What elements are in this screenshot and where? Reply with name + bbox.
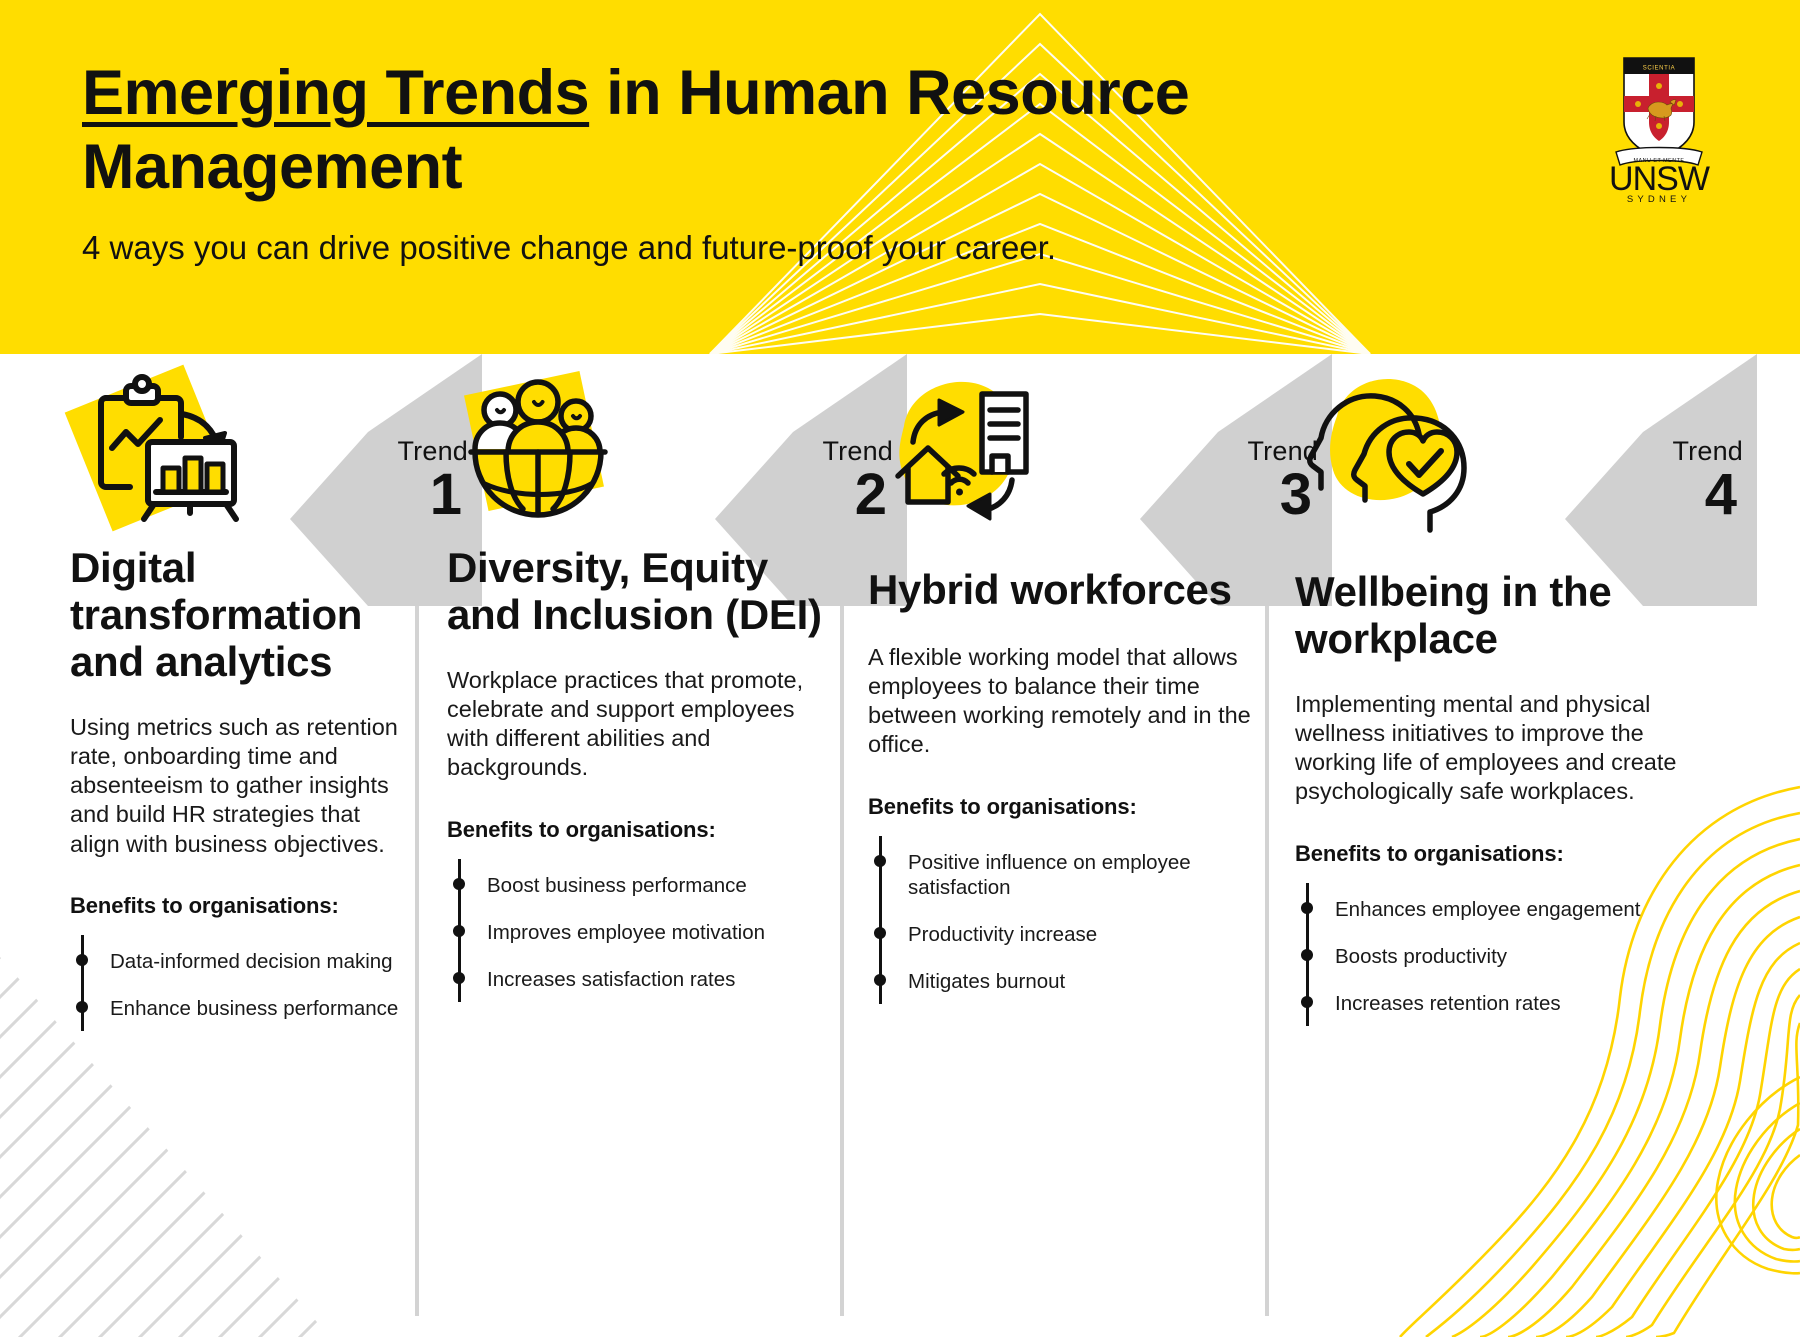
trend-description-1: Using metrics such as retention rate, on… [70,713,407,859]
bullet-dot-icon [76,954,88,966]
benefit-text: Mitigates burnout [908,970,1065,993]
trend-icon-3-wrap [872,354,1257,544]
unsw-sydney-logo: SCIENTIA MANU ET MENTE [1586,52,1732,204]
benefit-item: Enhance business performance [110,996,407,1021]
benefit-text: Productivity increase [908,923,1097,946]
benefits-list-4: Enhances employee engagement Boosts prod… [1295,897,1682,1016]
page-title: Emerging Trends in Human Resource Manage… [82,56,1522,205]
benefit-item: Increases retention rates [1335,991,1682,1016]
benefits-heading-3: Benefits to organisations: [868,794,1257,820]
benefits-spine-1 [81,935,84,1031]
trend-title-1: Digital transformation and analytics [70,544,407,685]
page-subtitle: 4 ways you can drive positive change and… [82,227,1522,268]
trend-description-2: Workplace practices that promote, celebr… [447,666,832,783]
benefit-item: Data-informed decision making [110,949,407,974]
header-text-block: Emerging Trends in Human Resource Manage… [82,56,1522,268]
trend-description-4: Implementing mental and physical wellnes… [1295,690,1682,807]
bullet-dot-icon [1301,949,1313,961]
benefit-item: Enhances employee engagement [1335,897,1682,922]
bullet-dot-icon [453,878,465,890]
benefit-item: Boost business performance [487,873,832,898]
trend-column-1: Trend 1 [0,354,425,1337]
header-banner: Emerging Trends in Human Resource Manage… [0,0,1800,354]
benefit-item: Improves employee motivation [487,920,832,945]
logo-sub-wordmark: SYDNEY [1627,194,1691,205]
benefit-item: Positive influence on employee satisfact… [908,850,1257,900]
infographic-page: Emerging Trends in Human Resource Manage… [0,0,1800,1337]
benefit-text: Increases retention rates [1335,992,1561,1015]
trend-icon-2-wrap [451,354,832,544]
benefit-text: Improves employee motivation [487,921,765,944]
analytics-clipboard-chart-icon [74,364,264,534]
benefit-text: Enhances employee engagement [1335,898,1640,921]
shield-banner-text: SCIENTIA [1643,66,1675,72]
benefits-heading-2: Benefits to organisations: [447,817,832,843]
trend-number-4: 4 [1705,466,1737,524]
bullet-dot-icon [874,974,886,986]
bullet-dot-icon [1301,996,1313,1008]
benefit-item: Productivity increase [908,922,1257,947]
benefit-text: Increases satisfaction rates [487,968,735,991]
benefits-heading-4: Benefits to organisations: [1295,841,1682,867]
benefit-text: Enhance business performance [110,997,398,1020]
trend-column-3: Trend 3 [850,354,1275,1337]
trend-title-2: Diversity, Equity and Inclusion (DEI) [447,544,832,638]
trend-description-3: A flexible working model that allows emp… [868,643,1257,760]
page-title-underlined: Emerging Trends [82,58,589,128]
bullet-dot-icon [453,925,465,937]
benefit-text: Boosts productivity [1335,945,1507,968]
benefits-list-3: Positive influence on employee satisfact… [868,850,1257,994]
benefit-text: Data-informed decision making [110,950,393,973]
benefit-item: Mitigates burnout [908,969,1257,994]
benefits-list-2: Boost business performance Improves empl… [447,873,832,992]
logo-wordmark: UNSW [1609,160,1710,198]
trend-icon-1-wrap [74,354,407,544]
bullet-dot-icon [1301,902,1313,914]
bullet-dot-icon [76,1001,88,1013]
benefit-text: Boost business performance [487,874,747,897]
trend-column-2: Trend 2 [425,354,850,1337]
trend-title-4: Wellbeing in the workplace [1295,568,1682,662]
bullet-dot-icon [874,927,886,939]
mental-wellbeing-heart-head-icon [1299,364,1479,534]
diverse-people-globe-icon [451,364,631,534]
home-office-cycle-icon [872,364,1052,534]
benefit-item: Boosts productivity [1335,944,1682,969]
trend-icon-4-wrap [1299,354,1682,544]
benefit-text: Positive influence on employee satisfact… [908,851,1191,899]
bullet-dot-icon [453,972,465,984]
trend-title-3: Hybrid workforces [868,566,1257,613]
benefits-heading-1: Benefits to organisations: [70,893,407,919]
trends-columns: Trend 1 [0,354,1800,1337]
benefit-item: Increases satisfaction rates [487,967,832,992]
trend-column-4: Trend 4 [1275,354,1700,1337]
bullet-dot-icon [874,855,886,867]
benefits-list-1: Data-informed decision making Enhance bu… [70,949,407,1021]
